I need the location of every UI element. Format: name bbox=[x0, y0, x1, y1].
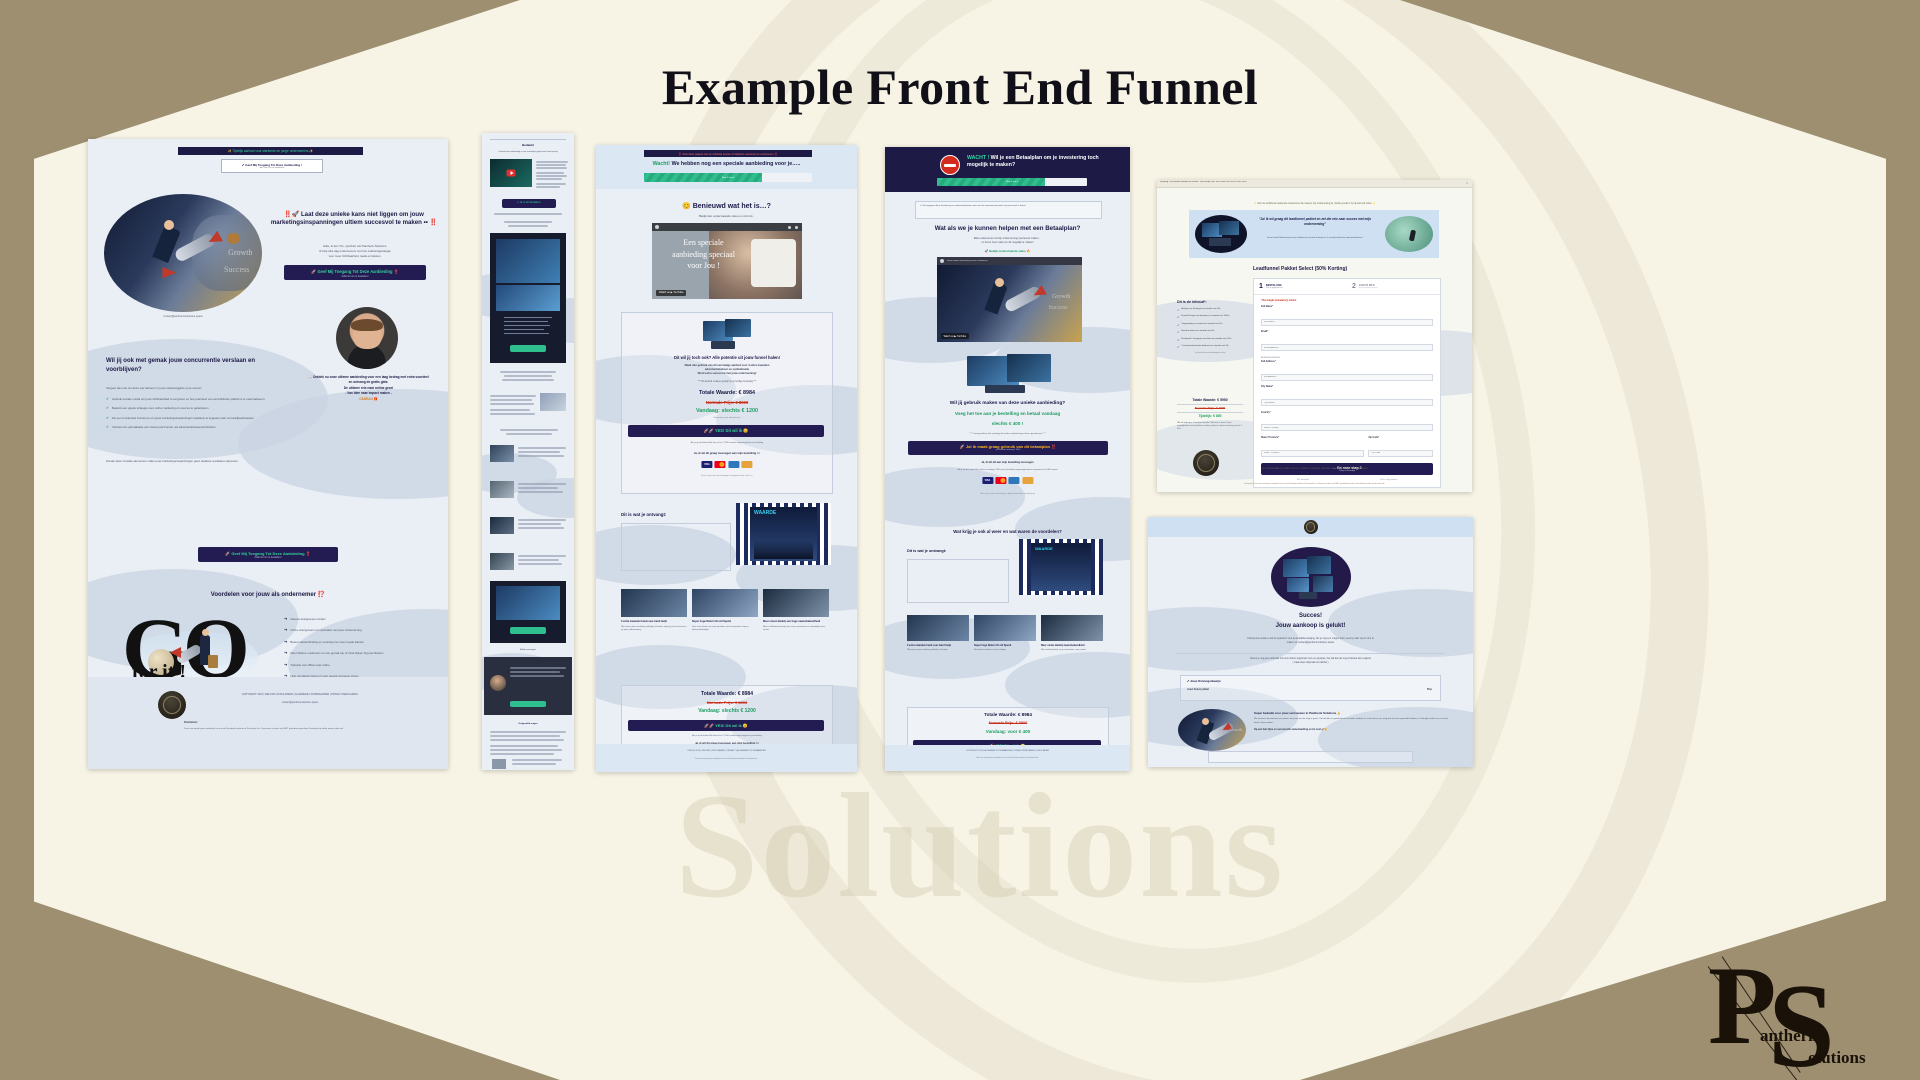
zip-input[interactable] bbox=[1368, 450, 1433, 457]
benefit-card: Super hoge Return On Ad Spend Door onze … bbox=[692, 589, 758, 632]
stop-icon bbox=[940, 155, 960, 175]
page1-portrait-caption: 📖 Ontdek nu onze ultieme aanbieding voor… bbox=[296, 375, 441, 402]
page2-inline-cta[interactable] bbox=[510, 345, 546, 352]
page5-product-title: Leadfunnel Pakket Select (50% Korting) bbox=[1253, 266, 1452, 272]
page3-cta-label-2: 🚀🚀 YES! Dit wil ik 😊 bbox=[628, 723, 824, 728]
page1-headline: ‼️🚀 Laat deze unieke kans niet liggen om… bbox=[270, 211, 438, 228]
page5-today-price: Tijdelijk: € 850 bbox=[1177, 413, 1243, 419]
page4-footer-nav[interactable]: COPYRIGHT 2023 | ALGEMENE VOORWAARDEN | … bbox=[885, 750, 1130, 752]
page3-wait-accent: Wacht! bbox=[653, 161, 670, 167]
mastercard-icon bbox=[995, 477, 1006, 484]
check-icon: ✔ bbox=[106, 406, 109, 410]
form-field-address[interactable]: Full Address* bbox=[1261, 361, 1433, 382]
page6-body-2: Kiezen je nog geen afspraak met ons hebb… bbox=[1188, 658, 1433, 666]
benefit-card-image bbox=[621, 589, 687, 617]
page3-normal-price: Normale Prijs: € 8900 bbox=[622, 400, 832, 405]
page1-intro: Hallo, ik ben Tim, oprichter van Panther… bbox=[284, 244, 426, 259]
page6-receipt-price: Prijs bbox=[1427, 688, 1432, 691]
page2-feature-image-1 bbox=[540, 393, 566, 411]
page2-feature-image-4 bbox=[490, 517, 514, 534]
city-input[interactable] bbox=[1261, 399, 1433, 406]
list-item: ✔ Copywriting en content ter waarde van … bbox=[1177, 323, 1243, 327]
page2-feature-image-2 bbox=[490, 445, 514, 462]
form-step-1[interactable]: 1 BESTELLING Vul je gegevens in bbox=[1254, 279, 1347, 294]
benefit-card-title: Super hoge Return On Ad Spend bbox=[974, 644, 1036, 647]
edge-band-left bbox=[0, 150, 34, 920]
form-field-email[interactable]: Email* bbox=[1261, 331, 1433, 352]
brand-logo: P S antherix olutions bbox=[1700, 952, 1890, 1064]
page4-progress-label: Stap 3 van 4 bbox=[937, 178, 1087, 186]
list-item: ➔ Online doorgroeien en opschalen van jo… bbox=[284, 628, 444, 632]
list-item: ✔ Zet een functionele Funnel op om jouw … bbox=[106, 416, 296, 420]
arrow-icon: ➔ bbox=[284, 663, 287, 667]
page2-inline-cta-3[interactable] bbox=[510, 701, 546, 707]
benefit-card-title: 3 extra maanden hand-over-hand hulp! bbox=[621, 620, 687, 624]
list-item: ✔ Gebruik sociale media om jouw zichtbaa… bbox=[106, 397, 296, 401]
page4-offer-note: *** Ontvang alleen het vandaag dit uniek… bbox=[899, 433, 1116, 435]
announcement-bar-text: ✨ Tijdelijk aanbod voor startende en jon… bbox=[178, 147, 363, 155]
page5-footer-disclaimer: Disclaimer: Deze site maakt geen onderde… bbox=[1183, 483, 1446, 486]
page6-thanks-body: We kunnen niet wachten om samen met jouw… bbox=[1254, 718, 1451, 725]
page5-logo-badge bbox=[1193, 450, 1219, 476]
discover-icon bbox=[742, 461, 753, 468]
page3-cta-link[interactable]: Ja, ik wil dit graag toevoegen aan mijn … bbox=[622, 452, 832, 455]
footer-logo-badge bbox=[158, 691, 186, 719]
state-input[interactable] bbox=[1261, 450, 1364, 457]
page3-offer-sub: Maak dan gebruik van dit eenmalige aanbo… bbox=[638, 364, 816, 376]
mockup-page-1-sales[interactable]: ✨ Tijdelijk aanbod voor startende en jon… bbox=[88, 139, 448, 769]
page6-receipt-item: Jouw Select pakket bbox=[1187, 688, 1209, 691]
benefit-card-title: Meer omzet dankzij een hoge naamsbekendh… bbox=[763, 620, 829, 624]
mid-cta-button[interactable]: 🚀 Geef Mij Toegang Tot Deze Aanbieding ‼… bbox=[198, 547, 338, 562]
page2-product-showcase bbox=[490, 233, 566, 363]
page5-normal-price: Normale Prijs: € 1800 bbox=[1177, 405, 1243, 413]
page6-rocket-image: Growth bbox=[1178, 709, 1246, 751]
page5-contents-heading: Dit is de inhoud*: bbox=[1177, 300, 1243, 304]
page2-feature-image-5 bbox=[490, 553, 514, 570]
benefit-card: 3 extra maanden hand-over-hand hulp! Wij… bbox=[907, 615, 969, 652]
page3-cta-button-2[interactable]: 🚀🚀 YES! Dit wil ik 😊 bbox=[628, 720, 824, 731]
page3-card-logos: VISA bbox=[701, 461, 752, 468]
page5-price-block: Totale Waarde: € 5950 Normale Prijs: € 1… bbox=[1177, 398, 1243, 431]
page-title: Example Front End Funnel bbox=[0, 58, 1920, 116]
page3-announcement-text: ‼️ Sluit deze pagina niet en dubbele kos… bbox=[644, 150, 812, 157]
benefit-card-image bbox=[692, 589, 758, 617]
benefit-card-image bbox=[907, 615, 969, 641]
page6-receipt-box: ✔ Jouw Ontvangstbewijs: Jouw Select pakk… bbox=[1180, 675, 1441, 701]
page2-subheading: Ontdek onze aanbieding in een eenmalige … bbox=[490, 151, 566, 153]
page3-deliverable-heading: Dit is wat je ontvangt: bbox=[621, 512, 666, 517]
mockup-page-4-oto2[interactable]: WACHT ! Wil je een Betaalplan om je inve… bbox=[885, 147, 1130, 771]
page2-video-thumbnail[interactable] bbox=[490, 159, 532, 187]
page4-cta-sublabel: <je betaalt vandaag € 400> bbox=[908, 449, 1108, 451]
form-field-state[interactable]: State / Province* bbox=[1261, 437, 1364, 458]
page6-calendar-box[interactable] bbox=[1208, 751, 1413, 763]
page4-offer-line-2: slechts € 400 ! bbox=[899, 421, 1116, 426]
visa-icon: VISA bbox=[982, 477, 993, 484]
page4-heading: Wat als we je kunnen helpen met een Beta… bbox=[885, 225, 1130, 232]
benefit-card: Super hoge Return On Ad Spend Maximale r… bbox=[974, 615, 1036, 652]
page4-deliverable-box bbox=[907, 559, 1009, 603]
list-item: ➔ Meer lifetime customers en met gemak t… bbox=[284, 651, 444, 655]
page6-receipt-heading: ✔ Jouw Ontvangstbewijs: bbox=[1187, 679, 1221, 683]
top-cta-button[interactable]: ✔ Geef Mij Toegang Tot Deze Aanbieding !… bbox=[221, 159, 323, 173]
page6-header-band bbox=[1148, 517, 1473, 537]
page3-heading: 😊 Benieuwd wat het is…? bbox=[596, 202, 857, 210]
benefit-card: Meer omzet dankzij naamsbekendheid Meer … bbox=[1041, 615, 1103, 652]
page3-deliverable-box bbox=[621, 523, 731, 571]
list-item: ➔ Nieuwe doelgroepen vinden bbox=[284, 617, 444, 621]
footer-disclaimer-text: Deze site maakt geen onderdeel uit van d… bbox=[184, 728, 384, 731]
page1-section2-sub: Vergeet dan niet om deze vier factoren i… bbox=[106, 386, 291, 390]
check-icon: ✔ bbox=[1177, 308, 1179, 312]
page5-footer-nav[interactable]: GET TESTIMONIALS | PRIVACY POLICY | TERM… bbox=[1157, 468, 1472, 470]
list-item: ➔ Betere klantenbinding en ervaring met … bbox=[284, 640, 444, 644]
discover-icon bbox=[1022, 477, 1033, 484]
check-icon: ✔ bbox=[1177, 345, 1179, 349]
check-icon: ✔ bbox=[1177, 330, 1179, 334]
page4-notice-text: ⚠ We begrijpen dat je het belang van adv… bbox=[920, 205, 1097, 208]
page5-address-group-label: ADRESGEGEVENS bbox=[1261, 357, 1433, 359]
page2-testimonial-block bbox=[484, 657, 572, 715]
check-icon: ✔ bbox=[106, 416, 109, 420]
page4-sub: Elke ondernemer wil zijn onderneming suc… bbox=[915, 237, 1100, 245]
visa-icon: VISA bbox=[701, 461, 712, 468]
list-item: ✔ Funnel Design van bouwen ter waarde va… bbox=[1177, 315, 1243, 319]
page3-cta-button[interactable]: 🚀🚀 YES! Dit wil ik 😊 bbox=[628, 425, 824, 437]
benefit-card-body: Wij nemen jouw marketing volledig uit ha… bbox=[621, 626, 687, 632]
page2-cta-button[interactable]: ✔ Ja, ik wil dit pakket ! bbox=[502, 199, 556, 208]
page6-thanks-heading: Super bedankt voor jouw vertrouwen in Pa… bbox=[1254, 711, 1451, 715]
benefit-card-body: Door onze kennis en ervaring halen wij h… bbox=[692, 626, 758, 632]
list-item: ➔ Transitie van offline naar online bbox=[284, 663, 444, 667]
page2-feature-image-3 bbox=[490, 481, 514, 498]
page5-price-note: *Als dit bedrag in 2 termijnen betaler? … bbox=[1177, 422, 1243, 431]
mastercard-icon bbox=[715, 461, 726, 468]
divider bbox=[1176, 653, 1445, 654]
top-cta-sublabel: <klik hier om te bestellen> bbox=[222, 167, 322, 169]
page3-video-title-2: aanbieding speciaal bbox=[660, 249, 747, 261]
page5-contents-block: Dit is de inhoud*: ✔ Analyse en Strategi… bbox=[1177, 300, 1243, 354]
page3-offer-card: Dit wil jij toch ook? Alle potentie uit … bbox=[621, 312, 833, 494]
page4-offer-line-1: Voeg het toe aan je bestelling en betaal… bbox=[899, 411, 1116, 417]
page4-benefits-heading: Wat krijg je ook al weer en wat waren de… bbox=[899, 529, 1116, 534]
page4-cta-button[interactable]: 🚀 Ja! Ik maak graag gebruik van dit beta… bbox=[908, 441, 1108, 455]
page4-offer-heading: Wil jij gebruik maken van deze unieke aa… bbox=[899, 401, 1116, 406]
page3-today-price: Vandaag: slechts € 1200 bbox=[622, 408, 832, 414]
page3-progress-bar: Stap 2 van 4 bbox=[644, 173, 812, 182]
mockup-page-3-oto1[interactable]: ‼️ Sluit deze pagina niet en dubbele kos… bbox=[596, 145, 857, 772]
list-item: ✔ Analyse en Strategie ter waarde van 50… bbox=[1177, 308, 1243, 312]
page4-benefit-cards: 3 extra maanden hand-over-hand hulp! Wij… bbox=[907, 615, 1103, 652]
arrow-icon: ➔ bbox=[284, 651, 287, 655]
benefit-card: Meer omzet dankzij een hoge naamsbekendh… bbox=[763, 589, 829, 632]
hero-rocket-image: Growth Success bbox=[104, 194, 262, 312]
country-select[interactable] bbox=[1261, 424, 1433, 431]
page6-thanks-block: Super bedankt voor jouw vertrouwen in Pa… bbox=[1254, 711, 1451, 731]
page2-testimonial-heading: Bekijk ervaringen bbox=[482, 649, 574, 651]
page4-top-banner: WACHT ! Wil je een Betaalplan om je inve… bbox=[885, 147, 1130, 192]
youtube-badge[interactable]: Watch on ▶ YouTube bbox=[941, 333, 969, 339]
footer-contact[interactable]: contact@pantherixsolutions.space bbox=[200, 701, 400, 704]
form-field-city[interactable]: City Name* bbox=[1261, 386, 1433, 407]
mockup-page-2-vsl[interactable]: Bedankt Ontdek onze aanbieding in een ee… bbox=[482, 133, 574, 770]
hero-cta-button[interactable]: 🚀 Geef Mij Toegang Tot Deze Aanbieding ‼… bbox=[284, 265, 426, 280]
list-item: ✔ Verbeter de optimalisatie van zowel jo… bbox=[106, 425, 296, 429]
page4-total-value: Totale Waarde: € 8984 bbox=[908, 712, 1108, 717]
page3-offer-product-image bbox=[699, 317, 755, 351]
page6-heading-1: Succes! bbox=[1148, 613, 1473, 619]
page3-cta-label: 🚀🚀 YES! Dit wil ik 😊 bbox=[628, 428, 824, 434]
page5-browser-warning-bar: Warning: Your Mode Enabled for funnel - … bbox=[1157, 180, 1472, 188]
page1-bullet-list: ✔ Gebruik sociale media om jouw zichtbaa… bbox=[106, 397, 296, 429]
page5-quote-sub: Social media Marketing met een leadfunne… bbox=[1259, 237, 1371, 240]
page6-logo-badge[interactable] bbox=[1304, 520, 1318, 534]
slide-canvas: Solutions Example Front End Funnel ✨ Tij… bbox=[0, 0, 1920, 1080]
check-icon: ✔ bbox=[1177, 338, 1179, 342]
check-icon: ✔ bbox=[106, 425, 109, 429]
list-item: ✔ Bedenk een goede strategie voor online… bbox=[106, 406, 296, 410]
page4-footer: COPYRIGHT 2023 | ALGEMENE VOORWAARDEN | … bbox=[885, 745, 1130, 771]
hero-word-success: Success bbox=[224, 265, 249, 274]
page3-footer: OFFICE 2023 | REFUND | DISCLAIMER | PRIV… bbox=[596, 744, 857, 772]
arrow-icon: ➔ bbox=[284, 640, 287, 644]
page4-video-player[interactable]: Social Media Marketing met een Leadfunne… bbox=[937, 257, 1082, 342]
form-field-fullname[interactable]: Full Name* bbox=[1261, 306, 1433, 327]
page5-contents-note: *inclusief advertentiebudget en btw bbox=[1177, 352, 1243, 354]
page4-decline-link[interactable]: Nee, ik hou niet van korting en betaal l… bbox=[885, 493, 1130, 495]
page4-deliverable-heading: Dit is wat je ontvangt: bbox=[907, 549, 946, 553]
page3-progress-label: Stap 2 van 4 bbox=[644, 173, 812, 182]
benefit-card: 3 extra maanden hand-over-hand hulp! Wij… bbox=[621, 589, 687, 632]
page5-product-ellipse bbox=[1195, 215, 1247, 253]
footer-disclaimer-label: Disclaimer: bbox=[184, 721, 198, 724]
page3-today-price-2: Vandaag: slechts € 1200 bbox=[622, 708, 832, 714]
benefit-card-title: Super hoge Return On Ad Spend bbox=[692, 620, 758, 624]
page5-top-note: ✨ Voor de ambitieuze startende onderneme… bbox=[1177, 202, 1452, 205]
benefit-card-body: Maximale resultaten uit jouw budget. bbox=[974, 649, 1036, 652]
mid-cta-sublabel: <klik hier om te bestellen> bbox=[198, 556, 338, 559]
page6-heading-2: Jouw aankoop is gelukt! bbox=[1148, 623, 1473, 629]
founder-portrait bbox=[336, 307, 398, 369]
page3-decline-link[interactable]: Nee, ik hou niet van kortingen en bespaa… bbox=[622, 475, 832, 477]
benefit-card-title: 3 extra maanden hand-over-hand hulp! bbox=[907, 644, 969, 647]
page5-climber-image bbox=[1385, 216, 1433, 252]
hero-word-growth: Growth bbox=[228, 248, 252, 257]
list-item: ✔ 1 maand advertentie beheren ter waarde… bbox=[1177, 345, 1243, 349]
form-field-country[interactable]: Country* bbox=[1261, 412, 1433, 433]
page3-cta-note: Als je op de button klikt dan zal er € 1… bbox=[622, 442, 832, 444]
page3-today-note: Eenmalig, geen abonnement bbox=[622, 417, 832, 419]
page2-product-showcase-2 bbox=[490, 581, 566, 643]
page3-subheading: Bekijk dan onderstaande video en vind ui… bbox=[596, 214, 857, 218]
page4-video-label: 🚀 Bekijk onderstaande video 🔥 bbox=[885, 249, 1130, 253]
arrow-icon: ➔ bbox=[284, 628, 287, 632]
page4-deliverable-image: WAARDE bbox=[1019, 539, 1103, 595]
page4-card-logos: VISA bbox=[982, 477, 1033, 484]
page1-section2-heading: Wil jij ook met gemak jouw concurrentie … bbox=[106, 357, 286, 374]
page4-today-price: Vandaag: voor € 400 bbox=[908, 729, 1108, 734]
page4-progress-bar: Stap 3 van 4 bbox=[937, 178, 1087, 186]
logo-word-solutions: olutions bbox=[1808, 1048, 1866, 1068]
secure-payment-badge: 100% veilig betalen bbox=[1380, 479, 1397, 481]
page5-submit-sub: Veilig en beveiligd bbox=[1261, 470, 1433, 472]
page2-inline-cta-2[interactable] bbox=[510, 627, 546, 634]
page4-cta-link[interactable]: Ja, ik wil dit aan mijn bestelling toevo… bbox=[885, 461, 1130, 464]
page3-wait-row: Wacht! We hebben nog een speciale aanbie… bbox=[596, 161, 857, 167]
watermark-text: Solutions bbox=[330, 760, 1630, 932]
page1-benefits-heading: Voordelen voor jouw als ondernemer ⁉️ bbox=[88, 591, 448, 598]
page3-deliverable-image: WAARDE bbox=[736, 503, 831, 565]
page6-body: Check jouw email er ook de spambox voor … bbox=[1188, 637, 1433, 645]
amex-icon bbox=[728, 461, 739, 468]
form-step-2[interactable]: 2 GRATIS INFO Bevestigingsscherm bbox=[1347, 279, 1440, 294]
page5-hero-band: "Ja! Ik wil graag dit leadfunnel pakket … bbox=[1189, 210, 1439, 258]
page2-heading: Bedankt bbox=[482, 143, 574, 147]
page6-thanks-closing: Op een hele fijne en succesvolle samenwe… bbox=[1254, 728, 1451, 731]
arrow-icon: ➔ bbox=[284, 617, 287, 621]
mockup-page-6-success[interactable]: Succes! Jouw aankoop is gelukt! Check jo… bbox=[1148, 517, 1473, 767]
check-icon: ✔ bbox=[1177, 323, 1179, 327]
page3-benefit-cards: 3 extra maanden hand-over-hand hulp! Wij… bbox=[621, 589, 829, 632]
list-item: ✔ Email inrichten ter waarde van 50,- bbox=[1177, 330, 1243, 334]
page4-cta-note: Als je op de button klikt wordt er vanda… bbox=[905, 469, 1110, 471]
ssl-badge: SSL beveiligd bbox=[1297, 479, 1309, 481]
page5-order-form[interactable]: 1 BESTELLING Vul je gegevens in 2 GRATIS… bbox=[1253, 278, 1441, 488]
page3-normal-price-2: Normale Prijs: € 8900 bbox=[622, 700, 832, 705]
page3-offer-note: *** Dit aanbod is alleen geldig bij uw h… bbox=[630, 381, 824, 383]
form-field-zip[interactable]: Zip Code* bbox=[1368, 437, 1433, 458]
edge-band-right bbox=[1886, 150, 1920, 920]
benefit-card-body: Meer zichtbaarheid zorgt voor meer vertr… bbox=[763, 626, 829, 632]
page6-product-image bbox=[1271, 547, 1351, 607]
page5-quote: "Ja! Ik wil graag dit leadfunnel pakket … bbox=[1255, 217, 1375, 226]
page3-video-label[interactable]: Watch on ▶ YouTube bbox=[656, 290, 686, 296]
benefit-card-body: Meer zichtbaarheid, meer vertrouwen, mee… bbox=[1041, 649, 1103, 652]
page3-wait-text: We hebben nog een speciale aanbieding vo… bbox=[672, 161, 801, 167]
benefit-card-image bbox=[763, 589, 829, 617]
page4-notice-box: ⚠ We begrijpen dat je het belang van adv… bbox=[915, 201, 1102, 219]
list-item: ✔ Facebook / Instagram inrichten ter waa… bbox=[1177, 338, 1243, 342]
close-icon[interactable]: × bbox=[1466, 181, 1468, 185]
page3-video-title-3: voor Jou ! bbox=[660, 260, 747, 272]
benefit-card-title: Meer omzet dankzij naamsbekendheid bbox=[1041, 644, 1103, 647]
mockup-page-5-orderform[interactable]: Warning: Your Mode Enabled for funnel - … bbox=[1157, 180, 1472, 492]
logo-word-pantherix: antherix bbox=[1760, 1026, 1821, 1046]
benefit-card-image bbox=[1041, 615, 1103, 641]
page3-total-value: Totale Waarde: € 8984 bbox=[622, 390, 832, 396]
page4-normal-price: Normale Prijs: € 8900 bbox=[908, 721, 1108, 725]
page3-offer-heading: Dit wil jij toch ook? Alle potentie uit … bbox=[630, 355, 824, 360]
benefit-card-image bbox=[974, 615, 1036, 641]
page5-browser-warning: Warning: Your Mode Enabled for funnel - … bbox=[1160, 181, 1420, 183]
page3-video-player[interactable]: Een speciale aanbieding speciaal voor Jo… bbox=[652, 223, 802, 299]
hero-caption: contact@pantherixsolutions.space bbox=[128, 315, 238, 318]
check-icon: ✔ bbox=[106, 397, 109, 401]
benefit-card-body: Wij nemen jouw marketing volledig uit ha… bbox=[907, 649, 969, 652]
intro-line-3: voor meer zichtbaarheid, leads en klante… bbox=[284, 254, 426, 259]
footer-nav[interactable]: COPYRIGHT 2023 | REFUND | DISCLAIMER | A… bbox=[200, 693, 400, 696]
address-input[interactable] bbox=[1261, 374, 1433, 381]
page1-section2-closing: Zonder deze cruciale elementen zullen jo… bbox=[106, 459, 294, 463]
page5-required-note: * Benodigde (mandatory) velden bbox=[1261, 300, 1433, 302]
page3-footer-nav[interactable]: OFFICE 2023 | REFUND | DISCLAIMER | PRIV… bbox=[596, 750, 857, 752]
hero-cta-sublabel: <klik hier om te bestellen> bbox=[284, 275, 426, 278]
page2-cta-label: ✔ Ja, ik wil dit pakket ! bbox=[502, 201, 556, 204]
page3-video-title-1: Een speciale bbox=[660, 237, 747, 249]
page1-footer: COPYRIGHT 2023 | REFUND | DISCLAIMER | A… bbox=[88, 677, 448, 769]
email-input[interactable] bbox=[1261, 344, 1433, 351]
page3-total-value-2: Totale Waarde: € 8984 bbox=[622, 691, 832, 697]
page4-wait-accent: WACHT ! bbox=[967, 155, 989, 161]
fullname-input[interactable] bbox=[1261, 319, 1433, 326]
check-icon: ✔ bbox=[1177, 315, 1179, 319]
page4-product-image bbox=[955, 352, 1061, 394]
amex-icon bbox=[1009, 477, 1020, 484]
